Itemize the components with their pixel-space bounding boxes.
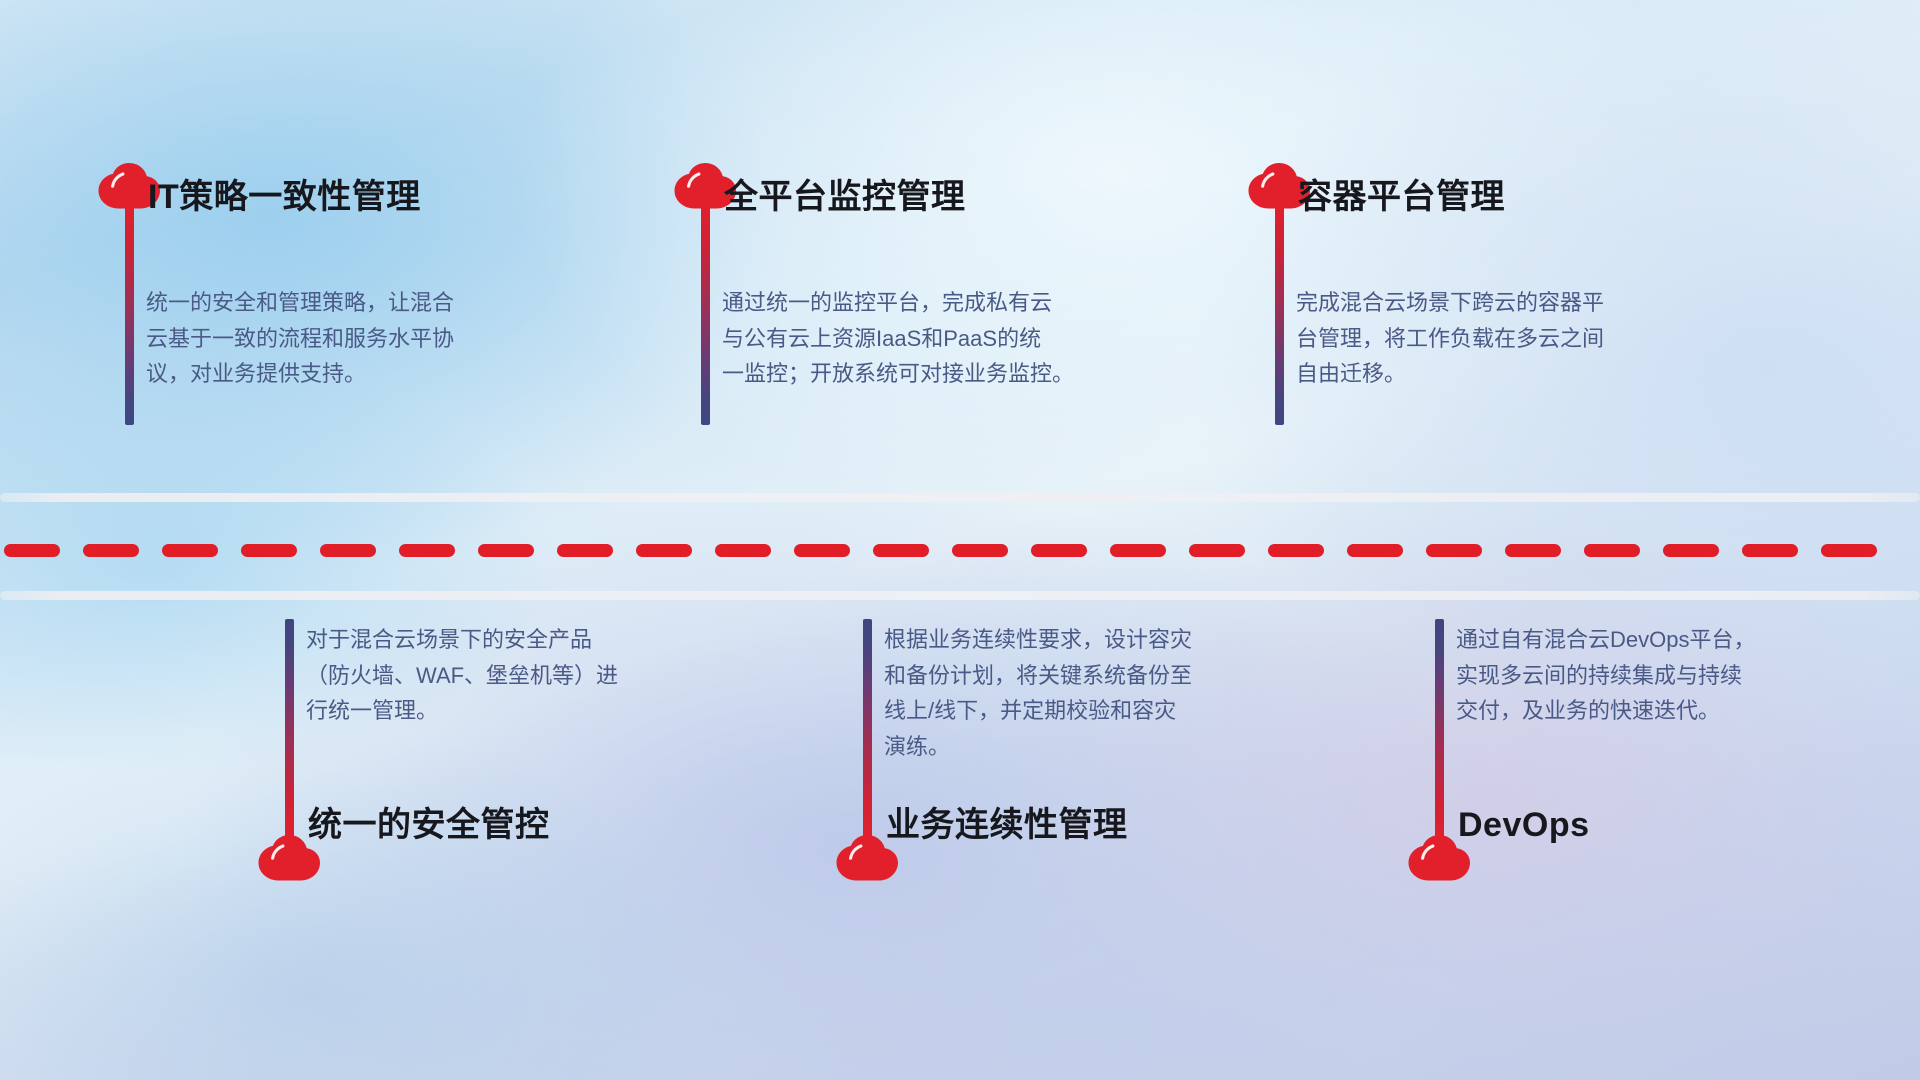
bottom-title-1: 统一的安全管控 (308, 807, 550, 844)
body-line: 线上/线下，并定期校验和容灾 (884, 693, 1314, 729)
divider-dash (1189, 544, 1245, 557)
body-line: 统一的安全和管理策略，让混合 (146, 285, 546, 321)
top-body-3: 完成混合云场景下跨云的容器平 台管理，将工作负载在多云之间 自由迁移。 (1296, 285, 1716, 392)
bottom-body-1: 对于混合云场景下的安全产品 （防火墙、WAF、堡垒机等）进 行统一管理。 (306, 622, 726, 729)
connector-stem-5 (863, 619, 872, 841)
body-line: 通过自有混合云DevOps平台， (1456, 622, 1856, 658)
top-title-2: 全平台监控管理 (724, 179, 966, 216)
node-full-platform-monitoring[interactable]: 全平台监控管理 通过统一的监控平台，完成私有云 与公有云上资源IaaS和PaaS… (674, 163, 1214, 493)
bottom-title-3: DevOps (1458, 807, 1590, 844)
divider-band-bottom (0, 591, 1920, 600)
body-line: 通过统一的监控平台，完成私有云 (722, 285, 1152, 321)
connector-stem-4 (285, 619, 294, 841)
divider-dash (715, 544, 771, 557)
divider-dashed-line (0, 543, 1920, 557)
divider-dash (1031, 544, 1087, 557)
connector-stem-1 (125, 203, 134, 425)
divider-dash (478, 544, 534, 557)
divider-dash (4, 544, 60, 557)
divider-dash (1505, 544, 1561, 557)
divider-dash (1110, 544, 1166, 557)
divider-dash (1663, 544, 1719, 557)
divider-dash (399, 544, 455, 557)
body-line: 和备份计划，将关键系统备份至 (884, 658, 1314, 694)
top-title-3: 容器平台管理 (1298, 179, 1505, 216)
node-unified-security-control[interactable]: 对于混合云场景下的安全产品 （防火墙、WAF、堡垒机等）进 行统一管理。 统一的… (258, 625, 778, 955)
divider-dash (1347, 544, 1403, 557)
connector-stem-3 (1275, 203, 1284, 425)
divider-dash (873, 544, 929, 557)
body-line: 行统一管理。 (306, 693, 726, 729)
divider-dash (1821, 544, 1877, 557)
connector-stem-6 (1435, 619, 1444, 841)
bottom-body-3: 通过自有混合云DevOps平台， 实现多云间的持续集成与持续 交付，及业务的快速… (1456, 622, 1856, 729)
body-line: 台管理，将工作负载在多云之间 (1296, 321, 1716, 357)
divider-dash (162, 544, 218, 557)
body-line: 根据业务连续性要求，设计容灾 (884, 622, 1314, 658)
body-line: 云基于一致的流程和服务水平协 (146, 321, 546, 357)
node-devops[interactable]: 通过自有混合云DevOps平台， 实现多云间的持续集成与持续 交付，及业务的快速… (1408, 625, 1908, 955)
top-body-1: 统一的安全和管理策略，让混合 云基于一致的流程和服务水平协 议，对业务提供支持。 (146, 285, 546, 392)
bottom-body-2: 根据业务连续性要求，设计容灾 和备份计划，将关键系统备份至 线上/线下，并定期校… (884, 622, 1314, 765)
body-line: 与公有云上资源IaaS和PaaS的统 (722, 321, 1152, 357)
divider-dash (1426, 544, 1482, 557)
divider-dash (1584, 544, 1640, 557)
divider-dash (1742, 544, 1798, 557)
top-body-2: 通过统一的监控平台，完成私有云 与公有云上资源IaaS和PaaS的统 一监控；开… (722, 285, 1152, 392)
body-line: 演练。 (884, 729, 1314, 765)
divider-dash (241, 544, 297, 557)
divider-dash (952, 544, 1008, 557)
body-line: 实现多云间的持续集成与持续 (1456, 658, 1856, 694)
divider-dash (320, 544, 376, 557)
body-line: 完成混合云场景下跨云的容器平 (1296, 285, 1716, 321)
divider-dash (794, 544, 850, 557)
body-line: 交付，及业务的快速迭代。 (1456, 693, 1856, 729)
bottom-title-2: 业务连续性管理 (886, 807, 1128, 844)
body-line: （防火墙、WAF、堡垒机等）进 (306, 658, 726, 694)
node-container-platform[interactable]: 容器平台管理 完成混合云场景下跨云的容器平 台管理，将工作负载在多云之间 自由迁… (1248, 163, 1788, 493)
divider-dash (636, 544, 692, 557)
divider-band-top (0, 493, 1920, 502)
body-line: 对于混合云场景下的安全产品 (306, 622, 726, 658)
node-it-policy-consistency[interactable]: IT策略一致性管理 统一的安全和管理策略，让混合 云基于一致的流程和服务水平协 … (98, 163, 618, 493)
divider-dash (1268, 544, 1324, 557)
body-line: 一监控；开放系统可对接业务监控。 (722, 356, 1152, 392)
node-business-continuity[interactable]: 根据业务连续性要求，设计容灾 和备份计划，将关键系统备份至 线上/线下，并定期校… (836, 625, 1376, 955)
top-title-1: IT策略一致性管理 (148, 179, 421, 216)
body-line: 议，对业务提供支持。 (146, 356, 546, 392)
body-line: 自由迁移。 (1296, 356, 1716, 392)
infographic-canvas: IT策略一致性管理 统一的安全和管理策略，让混合 云基于一致的流程和服务水平协 … (0, 0, 1920, 1080)
connector-stem-2 (701, 203, 710, 425)
divider-dash (83, 544, 139, 557)
divider-dash (557, 544, 613, 557)
